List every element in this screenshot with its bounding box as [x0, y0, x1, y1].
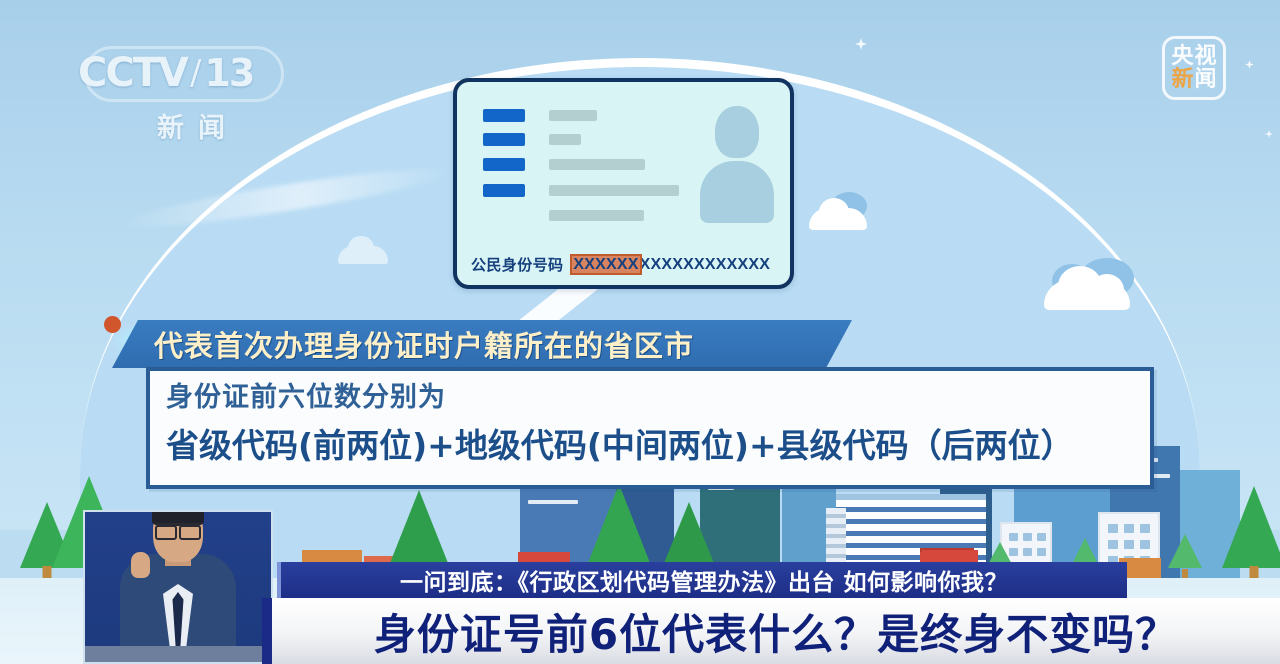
- cloud-icon: [805, 190, 879, 232]
- field-value-bar: [549, 185, 679, 196]
- sparkle-icon: [855, 38, 867, 50]
- id-number-digits: XXXXXXXXXXXXXXXXXX: [572, 256, 770, 274]
- field-value-bar: [549, 110, 597, 121]
- presenter-video-box: [83, 510, 273, 664]
- banner-bullet-dot: [104, 316, 121, 333]
- watermark-char-yang: 央: [1171, 46, 1193, 68]
- network-watermark: 央 视 新 闻: [1162, 36, 1226, 100]
- field-label-bar: [483, 158, 525, 171]
- field-value-bar: [549, 159, 645, 170]
- callout-banner: 代表首次办理身份证时户籍所在的省区市: [112, 320, 852, 368]
- tree-icon: [1222, 484, 1280, 578]
- id-number-highlight: XXXXXX: [572, 256, 639, 273]
- channel-logo-subtitle: 新闻: [78, 106, 288, 145]
- presenter-desk: [85, 646, 271, 662]
- lower-third-headline-text: 身份证号前6位代表什么？是终身不变吗？: [374, 601, 1178, 662]
- sparkle-icon: [1245, 60, 1254, 69]
- channel-logo: CCTV / 13 新闻: [78, 50, 288, 142]
- tree-icon: [1168, 534, 1202, 578]
- channel-logo-ring: [84, 46, 284, 102]
- field-value-bar: [549, 134, 581, 145]
- watermark-char-xin: 新: [1171, 69, 1193, 91]
- info-box: 身份证前六位数分别为 省级代码(前两位)+地级代码(中间两位)+县级代码（后两位…: [146, 367, 1154, 489]
- info-box-line-2: 省级代码(前两位)+地级代码(中间两位)+县级代码（后两位）: [166, 419, 1136, 467]
- callout-banner-text: 代表首次办理身份证时户籍所在的省区市: [154, 323, 694, 365]
- id-number-row: 公民身份号码 XXXXXXXXXXXXXXXXXX: [471, 254, 782, 275]
- lower-third-topic-bar: 一问到底：《行政区划代码管理办法》出台 如何影响你我？: [277, 562, 1127, 598]
- field-label-bar: [483, 109, 525, 122]
- presenter-hand: [131, 552, 150, 578]
- lower-third-headline-bar: 身份证号前6位代表什么？是终身不变吗？: [262, 598, 1280, 664]
- watermark-char-wen: 闻: [1195, 69, 1217, 91]
- field-value-bar: [549, 210, 644, 221]
- cloud-icon: [336, 232, 396, 266]
- portrait-silhouette-icon: [700, 106, 774, 223]
- broadcast-frame: 公民身份号码 XXXXXXXXXXXXXXXXXX 代表首次办理身份证时户籍所在…: [0, 0, 1280, 664]
- field-label-bar: [483, 133, 525, 146]
- lower-third-topic-text: 一问到底：《行政区划代码管理办法》出台 如何影响你我？: [400, 563, 1008, 597]
- watermark-char-shi: 视: [1195, 46, 1217, 68]
- watermark-line-2: 新 闻: [1171, 69, 1216, 91]
- id-number-label: 公民身份号码: [471, 254, 563, 275]
- sparkle-icon: [1265, 130, 1273, 138]
- watermark-line-1: 央 视: [1171, 46, 1216, 68]
- field-label-bar: [483, 184, 525, 197]
- id-number-remainder: XXXXXXXXXXXX: [640, 256, 770, 273]
- cloud-icon: [1036, 254, 1146, 314]
- id-card-graphic: 公民身份号码 XXXXXXXXXXXXXXXXXX: [453, 78, 794, 289]
- glasses-icon: [155, 523, 201, 534]
- info-box-line-1: 身份证前六位数分别为: [166, 381, 1136, 415]
